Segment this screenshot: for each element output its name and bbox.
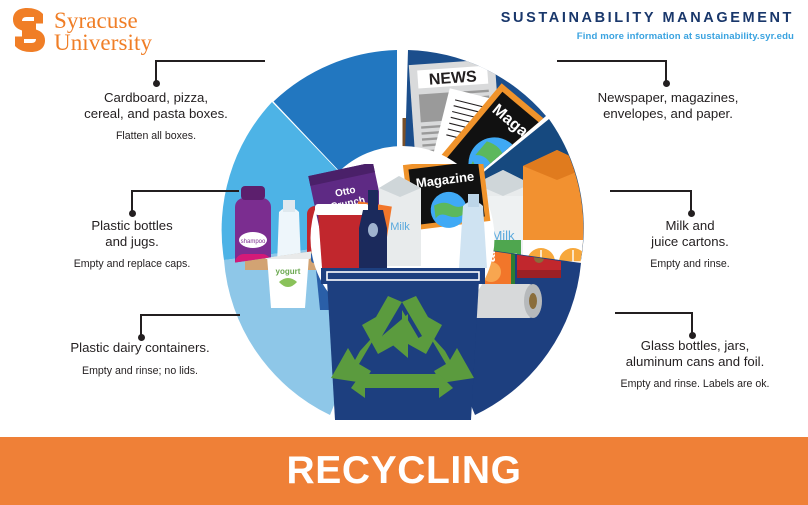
connector-plastic-bottles <box>131 190 239 216</box>
callout-cardboard[interactable]: Cardboard, pizza, cereal, and pasta boxe… <box>60 90 252 143</box>
callout-dairy-note: Empty and rinse; no lids. <box>40 365 240 378</box>
connector-dairy <box>140 314 240 340</box>
callout-plastic-bottles-note: Empty and replace caps. <box>38 258 226 271</box>
svg-text:Milk: Milk <box>390 221 410 233</box>
callout-cartons[interactable]: Milk and juice cartons. Empty and rinse. <box>600 218 780 271</box>
callout-plastic-bottles[interactable]: Plastic bottles and jugs. Empty and repl… <box>38 218 226 271</box>
connector-paper <box>557 60 667 86</box>
callout-plastic-bottles-title: Plastic bottles and jugs. <box>38 218 226 249</box>
connector-glass-metal <box>615 312 693 338</box>
header-right: SUSTAINABILITY MANAGEMENT Find more info… <box>501 10 794 42</box>
block-s-icon <box>12 8 46 52</box>
callout-cardboard-title: Cardboard, pizza, cereal, and pasta boxe… <box>60 90 252 121</box>
connector-cardboard <box>155 60 265 86</box>
callout-cartons-note: Empty and rinse. <box>600 258 780 271</box>
callout-glass-metal-title: Glass bottles, jars, aluminum cans and f… <box>592 338 798 369</box>
infographic-root: Syracuse University SUSTAINABILITY MANAG… <box>0 0 808 505</box>
logo-line-1: Syracuse <box>54 10 152 32</box>
program-url[interactable]: Find more information at sustainability.… <box>501 31 794 42</box>
logo-wordmark: Syracuse University <box>54 8 152 54</box>
callout-dairy-title: Plastic dairy containers. <box>40 340 240 356</box>
syracuse-university-logo: Syracuse University <box>12 8 152 54</box>
svg-text:yogurt: yogurt <box>276 267 301 276</box>
callout-paper-title: Newspaper, magazines, envelopes, and pap… <box>568 90 768 121</box>
logo-line-2: University <box>54 32 152 54</box>
callout-cardboard-note: Flatten all boxes. <box>60 130 252 143</box>
recycling-banner: RECYCLING <box>0 437 808 505</box>
svg-text:shampoo: shampoo <box>241 239 266 245</box>
svg-text:NEWS: NEWS <box>428 68 477 88</box>
center-recycling-bin: Otto Crunch Magazine Milk <box>308 155 490 420</box>
callout-cartons-title: Milk and juice cartons. <box>600 218 780 249</box>
callout-dairy[interactable]: Plastic dairy containers. Empty and rins… <box>40 340 240 378</box>
program-title: SUSTAINABILITY MANAGEMENT <box>501 10 794 26</box>
callout-glass-metal-note: Empty and rinse. Labels are ok. <box>592 378 798 391</box>
callout-glass-metal[interactable]: Glass bottles, jars, aluminum cans and f… <box>592 338 798 391</box>
banner-label: RECYCLING <box>0 449 808 493</box>
connector-cartons <box>610 190 692 216</box>
callout-paper[interactable]: Newspaper, magazines, envelopes, and pap… <box>568 90 768 121</box>
